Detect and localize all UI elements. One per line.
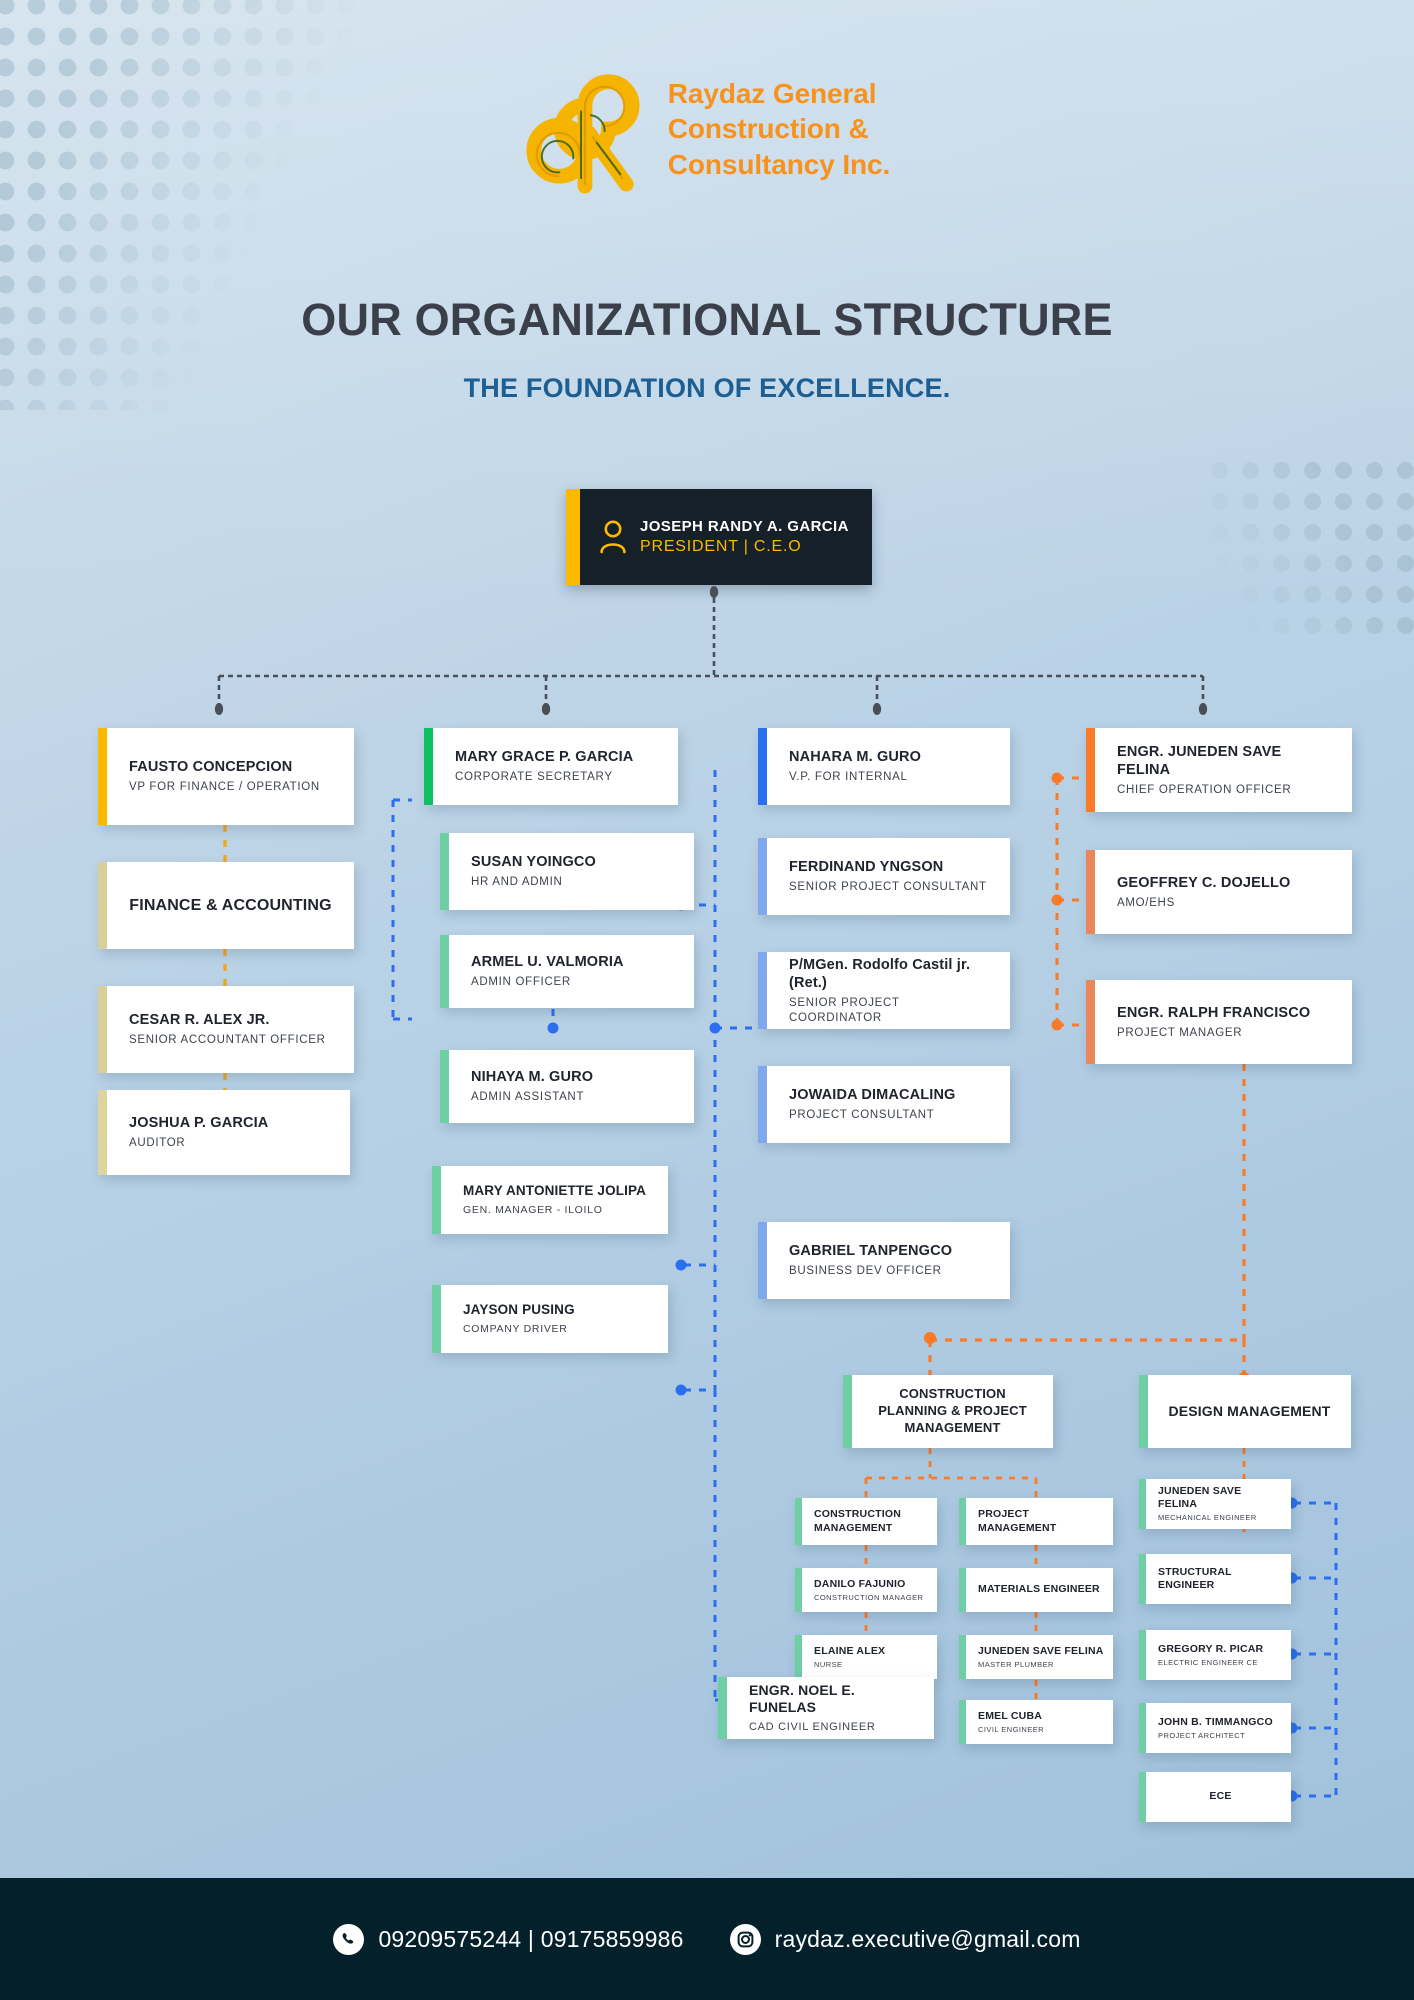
card-role: ADMIN ASSISTANT <box>471 1090 680 1104</box>
dot-pattern-right <box>1204 455 1414 635</box>
phone-icon <box>333 1924 364 1955</box>
accent-bar <box>1139 1703 1146 1753</box>
org-card-juneden-save-felina-coo[interactable]: ENGR. JUNEDEN SAVE FELINA CHIEF OPERATIO… <box>1086 728 1352 812</box>
org-card-mary-antoniette-jolipa[interactable]: MARY ANTONIETTE JOLIPA GEN. MANAGER - IL… <box>432 1166 668 1234</box>
org-card-cesar-alex[interactable]: CESAR R. ALEX JR. SENIOR ACCOUNTANT OFFI… <box>98 986 354 1073</box>
card-name: STRUCTURAL ENGINEER <box>1158 1566 1283 1592</box>
brand-line-3: Consultancy Inc. <box>668 147 890 183</box>
card-role: PROJECT MANAGER <box>1117 1026 1338 1040</box>
ceo-role: PRESIDENT | C.E.O <box>640 538 849 556</box>
card-role: AUDITOR <box>129 1136 336 1150</box>
card-role: GEN. MANAGER - ILOILO <box>463 1204 654 1217</box>
card-role: V.P. FOR INTERNAL <box>789 770 996 784</box>
org-card-structural-engineer[interactable]: STRUCTURAL ENGINEER <box>1139 1554 1291 1604</box>
footer-phone-text: 09209575244 | 09175859986 <box>378 1926 683 1953</box>
card-name: JAYSON PUSING <box>463 1302 654 1319</box>
card-name: FINANCE & ACCOUNTING <box>129 896 331 916</box>
org-card-rodolfo-castil[interactable]: P/MGen. Rodolfo Castil jr. (Ret.) SENIOR… <box>758 952 1010 1029</box>
card-name: GEOFFREY C. DOJELLO <box>1117 874 1338 892</box>
card-role: PROJECT CONSULTANT <box>789 1108 996 1122</box>
org-card-juneden-save-felina-mech[interactable]: JUNEDEN SAVE FELINA MECHANICAL ENGINEER <box>1139 1479 1291 1529</box>
card-name: PROJECT MANAGEMENT <box>978 1508 1105 1534</box>
card-name: JOSHUA P. GARCIA <box>129 1114 336 1132</box>
org-card-ece[interactable]: ECE <box>1139 1772 1291 1822</box>
org-card-john-timmangco[interactable]: JOHN B. TIMMANGCO PROJECT ARCHITECT <box>1139 1703 1291 1753</box>
card-role: CHIEF OPERATION OFFICER <box>1117 783 1338 797</box>
org-card-jayson-pusing[interactable]: JAYSON PUSING COMPANY DRIVER <box>432 1285 668 1353</box>
card-name: FERDINAND YNGSON <box>789 858 996 876</box>
org-card-construction-planning-header[interactable]: CONSTRUCTION PLANNING & PROJECT MANAGEME… <box>843 1375 1053 1448</box>
accent-bar <box>795 1498 802 1545</box>
card-name: DESIGN MANAGEMENT <box>1169 1403 1331 1421</box>
card-name: ENGR. RALPH FRANCISCO <box>1117 1004 1338 1022</box>
card-role: MECHANICAL ENGINEER <box>1158 1513 1283 1522</box>
org-card-design-management-header[interactable]: DESIGN MANAGEMENT <box>1139 1375 1351 1448</box>
footer-contact-bar: 09209575244 | 09175859986 raydaz.executi… <box>0 1878 1414 2000</box>
card-role: COMPANY DRIVER <box>463 1323 654 1336</box>
org-card-fausto-concepcion[interactable]: FAUSTO CONCEPCION VP FOR FINANCE / OPERA… <box>98 728 354 825</box>
card-name: EMEL CUBA <box>978 1710 1105 1723</box>
brand-header: Raydaz General Construction & Consultanc… <box>0 60 1414 198</box>
ceo-name: JOSEPH RANDY A. GARCIA <box>640 518 849 535</box>
page-subtitle: THE FOUNDATION OF EXCELLENCE. <box>0 373 1414 404</box>
card-role: NURSE <box>814 1660 929 1669</box>
card-role: CORPORATE SECRETARY <box>455 770 664 784</box>
instagram-icon <box>730 1924 761 1955</box>
card-role: AMO/EHS <box>1117 896 1338 910</box>
card-role: HR AND ADMIN <box>471 875 680 889</box>
card-role: BUSINESS DEV OFFICER <box>789 1264 996 1278</box>
card-name: GREGORY R. PICAR <box>1158 1643 1283 1656</box>
org-card-noel-funelas[interactable]: ENGR. NOEL E. FUNELAS CAD CIVIL ENGINEER <box>718 1677 934 1739</box>
card-role: SENIOR PROJECT CONSULTANT <box>789 880 996 894</box>
accent-bar <box>959 1568 966 1612</box>
accent-bar <box>1139 1479 1146 1529</box>
accent-bar <box>440 1050 449 1123</box>
card-role: CIVIL ENGINEER <box>978 1725 1105 1734</box>
card-name: DANILO FAJUNIO <box>814 1578 929 1591</box>
org-card-juneden-save-felina-plumber[interactable]: JUNEDEN SAVE FELINA MASTER PLUMBER <box>959 1635 1113 1679</box>
brand-line-2: Construction & <box>668 111 890 147</box>
card-name: ARMEL U. VALMORIA <box>471 953 680 971</box>
card-role: ADMIN OFFICER <box>471 975 680 989</box>
card-name: JOWAIDA DIMACALING <box>789 1086 996 1104</box>
card-name: JOHN B. TIMMANGCO <box>1158 1716 1283 1729</box>
accent-bar <box>1086 728 1095 812</box>
accent-bar <box>795 1568 802 1612</box>
page-title: OUR ORGANIZATIONAL STRUCTURE <box>0 294 1414 346</box>
org-card-geoffrey-dojello[interactable]: GEOFFREY C. DOJELLO AMO/EHS <box>1086 850 1352 934</box>
org-card-susan-yoingco[interactable]: SUSAN YOINGCO HR AND ADMIN <box>440 833 694 910</box>
org-card-construction-management[interactable]: CONSTRUCTION MANAGEMENT <box>795 1498 937 1545</box>
org-card-gabriel-tanpengco[interactable]: GABRIEL TANPENGCO BUSINESS DEV OFFICER <box>758 1222 1010 1299</box>
card-role: SENIOR PROJECT COORDINATOR <box>789 996 996 1025</box>
card-name: MARY ANTONIETTE JOLIPA <box>463 1183 654 1200</box>
accent-bar <box>1139 1375 1148 1448</box>
footer-phone[interactable]: 09209575244 | 09175859986 <box>333 1924 683 1955</box>
footer-email-text: raydaz.executive@gmail.com <box>775 1926 1081 1953</box>
ceo-accent-bar <box>566 489 580 585</box>
accent-bar <box>424 728 433 805</box>
accent-bar <box>959 1700 966 1744</box>
card-name: NIHAYA M. GURO <box>471 1068 680 1086</box>
accent-bar <box>440 833 449 910</box>
accent-bar <box>795 1635 802 1679</box>
accent-bar <box>959 1635 966 1679</box>
card-name: CONSTRUCTION MANAGEMENT <box>814 1508 929 1535</box>
card-name: ENGR. JUNEDEN SAVE FELINA <box>1117 743 1338 779</box>
accent-bar <box>98 862 107 949</box>
card-name: MATERIALS ENGINEER <box>978 1583 1105 1596</box>
card-name: CONSTRUCTION PLANNING & PROJECT MANAGEME… <box>866 1386 1039 1437</box>
accent-bar <box>1139 1772 1146 1822</box>
accent-bar <box>718 1677 727 1739</box>
accent-bar <box>1139 1630 1146 1680</box>
card-name: P/MGen. Rodolfo Castil jr. (Ret.) <box>789 956 996 992</box>
footer-email[interactable]: raydaz.executive@gmail.com <box>730 1924 1081 1955</box>
org-card-nihaya-guro[interactable]: NIHAYA M. GURO ADMIN ASSISTANT <box>440 1050 694 1123</box>
brand-line-1: Raydaz General <box>668 76 890 112</box>
accent-bar <box>1086 980 1095 1064</box>
card-role: VP FOR FINANCE / OPERATION <box>129 780 340 794</box>
org-card-armel-valmoria[interactable]: ARMEL U. VALMORIA ADMIN OFFICER <box>440 935 694 1008</box>
org-card-emel-cuba[interactable]: EMEL CUBA CIVIL ENGINEER <box>959 1700 1113 1744</box>
accent-bar <box>432 1166 441 1234</box>
accent-bar <box>440 935 449 1008</box>
card-name: JUNEDEN SAVE FELINA <box>1158 1485 1283 1511</box>
accent-bar <box>98 986 107 1073</box>
accent-bar <box>758 952 767 1029</box>
card-name: CESAR R. ALEX JR. <box>129 1011 340 1029</box>
person-icon <box>598 519 628 555</box>
card-name: NAHARA M. GURO <box>789 748 996 766</box>
accent-bar <box>98 728 107 825</box>
org-card-ralph-francisco[interactable]: ENGR. RALPH FRANCISCO PROJECT MANAGER <box>1086 980 1352 1064</box>
accent-bar <box>758 838 767 915</box>
org-card-mary-grace-garcia[interactable]: MARY GRACE P. GARCIA CORPORATE SECRETARY <box>424 728 678 805</box>
org-card-ferdinand-yngson[interactable]: FERDINAND YNGSON SENIOR PROJECT CONSULTA… <box>758 838 1010 915</box>
card-name: ECE <box>1209 1790 1231 1803</box>
card-name: JUNEDEN SAVE FELINA <box>978 1645 1105 1658</box>
card-name: GABRIEL TANPENGCO <box>789 1242 996 1260</box>
brand-name: Raydaz General Construction & Consultanc… <box>668 76 890 183</box>
org-card-jowaida-dimacaling[interactable]: JOWAIDA DIMACALING PROJECT CONSULTANT <box>758 1066 1010 1143</box>
card-name: ELAINE ALEX <box>814 1645 929 1658</box>
card-role: CONSTRUCTION MANAGER <box>814 1593 929 1602</box>
card-name: ENGR. NOEL E. FUNELAS <box>749 1682 920 1717</box>
card-role: ELECTRIC ENGINEER CE <box>1158 1658 1283 1667</box>
accent-bar <box>758 1222 767 1299</box>
accent-bar <box>432 1285 441 1353</box>
card-role: CAD CIVIL ENGINEER <box>749 1721 920 1735</box>
accent-bar <box>1139 1554 1146 1604</box>
org-card-finance-accounting[interactable]: FINANCE & ACCOUNTING <box>98 862 354 949</box>
card-role: MASTER PLUMBER <box>978 1660 1105 1669</box>
org-card-materials-engineer[interactable]: MATERIALS ENGINEER <box>959 1568 1113 1612</box>
org-card-danilo-fajunio[interactable]: DANILO FAJUNIO CONSTRUCTION MANAGER <box>795 1568 937 1612</box>
card-name: FAUSTO CONCEPCION <box>129 758 340 776</box>
accent-bar <box>843 1375 852 1448</box>
card-role: PROJECT ARCHITECT <box>1158 1731 1283 1740</box>
org-card-project-management[interactable]: PROJECT MANAGEMENT <box>959 1498 1113 1545</box>
card-name: SUSAN YOINGCO <box>471 853 680 871</box>
accent-bar <box>98 1090 107 1175</box>
card-name: MARY GRACE P. GARCIA <box>455 748 664 766</box>
accent-bar <box>758 1066 767 1143</box>
card-role: SENIOR ACCOUNTANT OFFICER <box>129 1033 340 1047</box>
org-card-joshua-garcia[interactable]: JOSHUA P. GARCIA AUDITOR <box>98 1090 350 1175</box>
accent-bar <box>758 728 767 805</box>
ceo-card[interactable]: JOSEPH RANDY A. GARCIA PRESIDENT | C.E.O <box>566 489 872 585</box>
accent-bar <box>1086 850 1095 934</box>
raydaz-r-monogram-icon <box>524 60 642 198</box>
accent-bar <box>959 1498 966 1545</box>
org-card-elaine-alex[interactable]: ELAINE ALEX NURSE <box>795 1635 937 1679</box>
org-card-nahara-guro[interactable]: NAHARA M. GURO V.P. FOR INTERNAL <box>758 728 1010 805</box>
org-card-gregory-picar[interactable]: GREGORY R. PICAR ELECTRIC ENGINEER CE <box>1139 1630 1291 1680</box>
